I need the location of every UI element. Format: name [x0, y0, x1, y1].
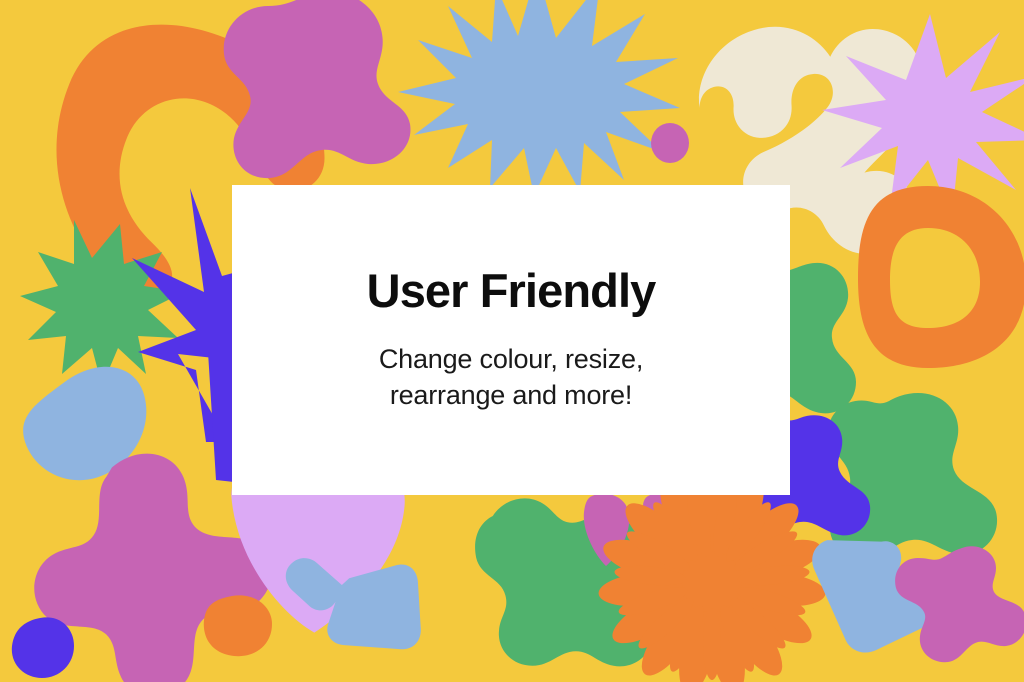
blue-starburst-top: [398, 0, 680, 196]
orange-ring-shape: [858, 186, 1024, 368]
violet-dot-bottom-left: [12, 617, 74, 678]
card-subtitle: Change colour, resize, rearrange and mor…: [331, 342, 691, 414]
page-title: User Friendly: [367, 266, 656, 317]
poster-canvas: User Friendly Change colour, resize, rea…: [0, 0, 1024, 682]
orange-dot-bottom: [204, 595, 272, 656]
green-blob-right-lower: [828, 393, 997, 560]
content-card: User Friendly Change colour, resize, rea…: [232, 185, 790, 495]
magenta-dot-top: [651, 123, 689, 163]
